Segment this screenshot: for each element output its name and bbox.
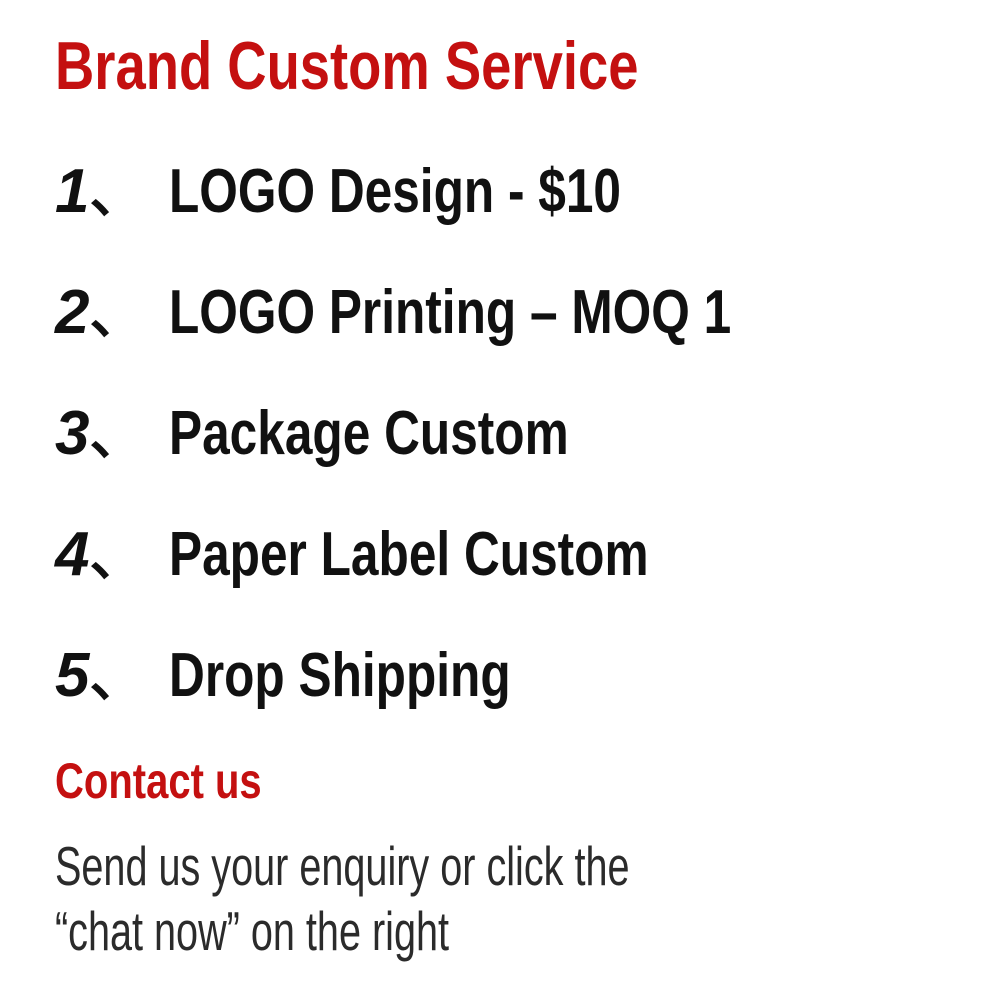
service-item-separator: 、 bbox=[89, 285, 143, 345]
page-title-text: Brand Custom Service bbox=[55, 26, 638, 106]
contact-body-line-2: “chat now” on the right bbox=[55, 899, 602, 963]
service-list-item-1: 1、LOGO Design - $10 bbox=[55, 155, 735, 229]
contact-body-text: “chat now” on the right bbox=[55, 899, 449, 963]
page-title: Brand Custom Service bbox=[55, 26, 784, 106]
service-item-separator: 、 bbox=[89, 164, 143, 224]
service-item-number: 3 bbox=[55, 399, 89, 468]
service-list-item-2: 2、LOGO Printing – MOQ 1 bbox=[55, 276, 872, 350]
brand-custom-service-poster: Brand Custom Service 1、LOGO Design - $10… bbox=[0, 0, 1000, 1000]
service-item-number: 1 bbox=[55, 157, 89, 226]
service-item-separator: 、 bbox=[89, 648, 143, 708]
service-item-separator: 、 bbox=[89, 406, 143, 466]
service-item-number: 4 bbox=[55, 520, 89, 589]
service-item-label: LOGO Printing – MOQ 1 bbox=[169, 276, 731, 350]
contact-heading-text: Contact us bbox=[55, 752, 262, 810]
service-item-number: 5 bbox=[55, 641, 89, 710]
service-item-number: 2 bbox=[55, 278, 89, 347]
service-list-item-3: 3、Package Custom bbox=[55, 397, 669, 471]
service-item-label: LOGO Design - $10 bbox=[169, 155, 621, 229]
service-item-label: Paper Label Custom bbox=[169, 518, 649, 592]
service-list-item-4: 4、Paper Label Custom bbox=[55, 518, 769, 592]
service-list-item-5: 5、Drop Shipping bbox=[55, 639, 597, 713]
contact-body-line-1: Send us your enquiry or click the bbox=[55, 834, 853, 898]
contact-body-text: Send us your enquiry or click the bbox=[55, 834, 629, 898]
contact-heading: Contact us bbox=[55, 752, 313, 810]
service-item-label: Package Custom bbox=[169, 397, 569, 471]
service-item-label: Drop Shipping bbox=[169, 639, 511, 713]
service-item-separator: 、 bbox=[89, 527, 143, 587]
